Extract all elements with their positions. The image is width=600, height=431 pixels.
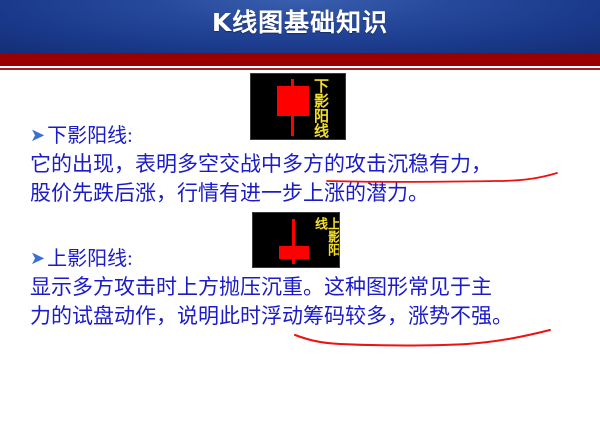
header-red-band: [0, 53, 600, 66]
slide-content: 下影阳线 ➤下影阳线: 它的出现，表明多空交战中多方的攻击沉稳有力， 股价先跌后…: [0, 70, 600, 431]
candle-body-icon: [279, 246, 309, 259]
red-wavy-underline-annotation: [292, 328, 554, 354]
arrow-bullet-icon: ➤: [30, 125, 45, 145]
paragraph-line: 股价先跌后涨，行情有进一步上涨的潜力。: [30, 179, 429, 208]
figure-label-text: 下影阳线: [313, 78, 328, 138]
slide-header-band: K线图基础知识: [0, 0, 600, 53]
bullet-heading-label: 下影阳线:: [47, 125, 133, 147]
bullet-heading-label: 上影阳线:: [47, 248, 133, 270]
page-title: K线图基础知识: [0, 6, 600, 40]
arrow-bullet-icon: ➤: [30, 248, 45, 268]
paragraph-line: 显示多方攻击时上方抛压沉重。这种图形常见于主: [30, 273, 492, 302]
paragraph-line: 它的出现，表明多空交战中多方的攻击沉稳有力，: [30, 150, 492, 179]
bullet-heading-lower-shadow: ➤下影阳线:: [30, 119, 133, 148]
bullet-heading-upper-shadow: ➤上影阳线:: [30, 242, 133, 271]
candle-body-icon: [277, 86, 309, 116]
figure-label-text: 上影阳线: [313, 217, 339, 265]
paragraph-line: 力的试盘动作，说明此时浮动筹码较多，涨势不强。: [30, 302, 513, 331]
candlestick-figure-upper-shadow: 上影阳线: [252, 212, 340, 268]
candlestick-figure-lower-shadow: 下影阳线: [250, 73, 346, 140]
